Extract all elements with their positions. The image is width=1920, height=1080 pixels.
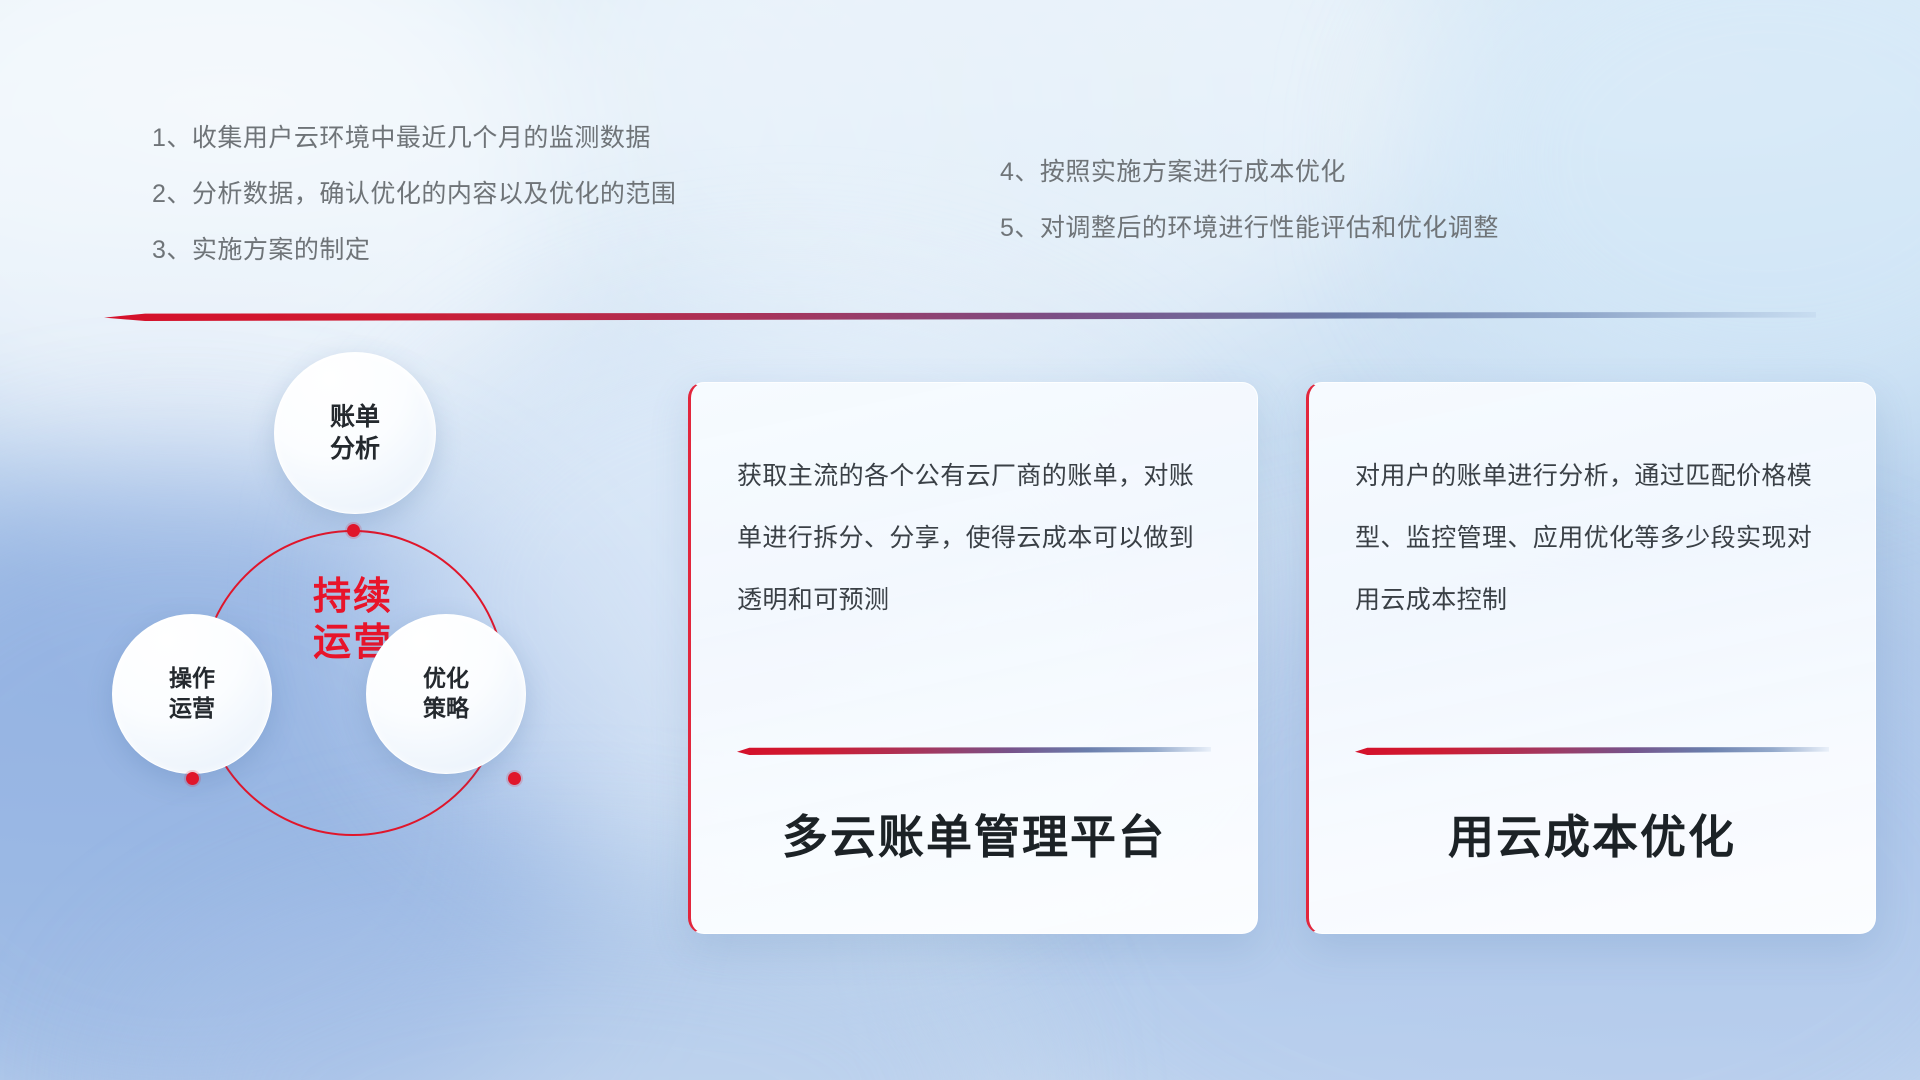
bubble-label-line-2: 分析 bbox=[330, 435, 380, 463]
diagram-node-dot-right bbox=[508, 772, 521, 785]
card-cloud-cost-optimization[interactable]: 对用户的账单进行分析，通过匹配价格模型、监控管理、应用优化等多少段实现对用云成本… bbox=[1306, 382, 1876, 934]
center-label-line-1: 持续 bbox=[200, 574, 506, 620]
diagram-bubble-bill-analysis[interactable]: 账单 分析 bbox=[274, 352, 436, 514]
bubble-label-line-1: 账单 bbox=[330, 403, 380, 431]
card-body-text: 对用户的账单进行分析，通过匹配价格模型、监控管理、应用优化等多少段实现对用云成本… bbox=[1355, 445, 1829, 631]
bubble-label-line-1: 优化 bbox=[423, 665, 469, 691]
steps-right-column: 4、按照实施方案进行成本优化 5、对调整后的环境进行性能评估和优化调整 bbox=[1000, 144, 1499, 256]
diagram-node-dot-left bbox=[186, 772, 199, 785]
card-multi-cloud-billing[interactable]: 获取主流的各个公有云厂商的账单，对账单进行拆分、分享，使得云成本可以做到透明和可… bbox=[688, 382, 1258, 934]
card-body-text: 获取主流的各个公有云厂商的账单，对账单进行拆分、分享，使得云成本可以做到透明和可… bbox=[737, 445, 1211, 631]
bubble-label-line-1: 操作 bbox=[169, 665, 215, 691]
diagram-node-dot-top bbox=[347, 524, 360, 537]
step-item-5: 5、对调整后的环境进行性能评估和优化调整 bbox=[1000, 200, 1499, 256]
step-item-4: 4、按照实施方案进行成本优化 bbox=[1000, 144, 1499, 200]
card-accent-rule bbox=[1355, 747, 1829, 755]
slide-canvas: 1、收集用户云环境中最近几个月的监测数据 2、分析数据，确认优化的内容以及优化的… bbox=[0, 0, 1920, 1080]
step-item-1: 1、收集用户云环境中最近几个月的监测数据 bbox=[152, 110, 676, 166]
section-divider-rule bbox=[104, 312, 1816, 321]
diagram-bubble-operation-ops[interactable]: 操作 运营 bbox=[112, 614, 272, 774]
card-title: 用云成本优化 bbox=[1355, 801, 1829, 867]
step-item-3: 3、实施方案的制定 bbox=[152, 222, 676, 278]
bubble-label-line-2: 策略 bbox=[423, 695, 469, 721]
card-accent-rule bbox=[737, 747, 1211, 755]
step-item-2: 2、分析数据，确认优化的内容以及优化的范围 bbox=[152, 166, 676, 222]
diagram-bubble-optimization-policy[interactable]: 优化 策略 bbox=[366, 614, 526, 774]
card-title: 多云账单管理平台 bbox=[737, 801, 1211, 867]
bubble-label-line-2: 运营 bbox=[169, 695, 215, 721]
steps-left-column: 1、收集用户云环境中最近几个月的监测数据 2、分析数据，确认优化的内容以及优化的… bbox=[152, 110, 676, 278]
continuous-operation-diagram: 持续 运营 账单 分析 操作 运营 优化 策略 bbox=[96, 352, 636, 952]
